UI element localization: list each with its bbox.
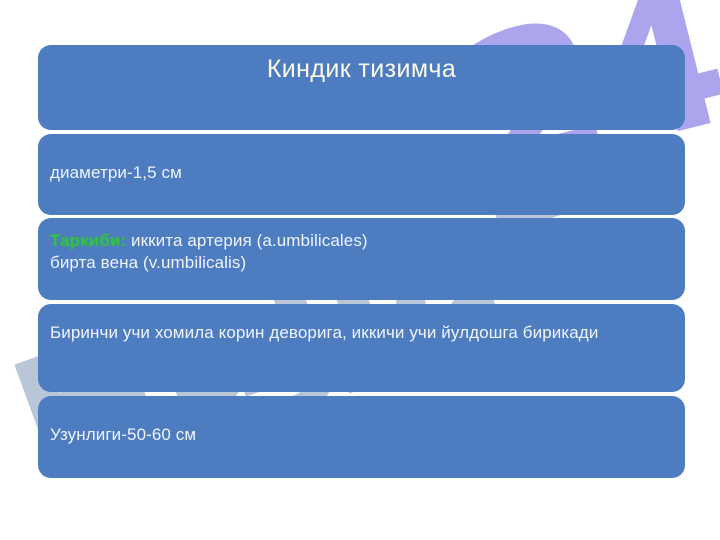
content-box-vessels: Таркиби: иккита артерия (a.umbilicales) … <box>38 218 685 300</box>
content-boxes: Киндик тизимча диаметри-1,5 см Таркиби: … <box>0 0 720 540</box>
slide-title: Киндик тизимча <box>38 55 685 84</box>
vessels-line1-rest: иккита артерия (a.umbilicales) <box>126 231 368 250</box>
attachment-text: Биринчи учи хомила корин деворига, иккич… <box>50 322 671 344</box>
length-text: Узунлиги-50-60 см <box>50 424 671 446</box>
content-box-diameter: диаметри-1,5 см <box>38 134 685 215</box>
vessels-highlight: Таркиби: <box>50 231 126 250</box>
vessels-text: Таркиби: иккита артерия (a.umbilicales) … <box>50 230 671 274</box>
slide-canvas: 24 Hujjat Киндик тизимча диаметри-1,5 см… <box>0 0 720 540</box>
vessels-line2: бирта вена (v.umbilicalis) <box>50 253 246 272</box>
content-box-attachment: Биринчи учи хомила корин деворига, иккич… <box>38 304 685 392</box>
diameter-text: диаметри-1,5 см <box>50 162 671 184</box>
title-box: Киндик тизимча <box>38 45 685 130</box>
content-box-length: Узунлиги-50-60 см <box>38 396 685 478</box>
